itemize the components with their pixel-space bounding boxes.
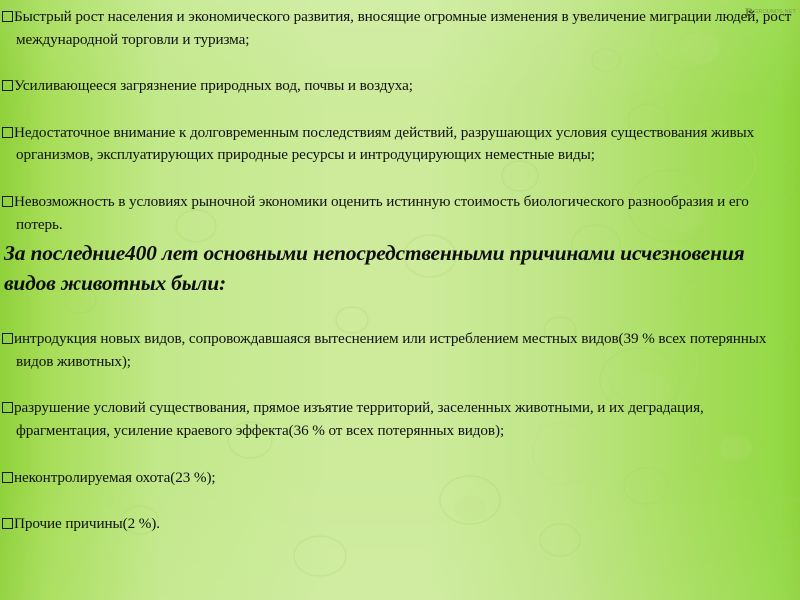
bullet-habitat-destruction-text: разрушение условий существования, прямое…: [14, 399, 704, 439]
bullet-other-causes: Прочие причины(2 %).: [2, 513, 792, 536]
bullet-box-icon: [2, 518, 13, 529]
slide-content: Быстрый рост населения и экономического …: [0, 0, 800, 600]
bullet-pollution: Усиливающееся загрязнение природных вод,…: [2, 75, 792, 98]
bullet-box-icon: [2, 333, 13, 344]
bullet-box-icon: [2, 472, 13, 483]
bullet-market-economy: Невозможность в условиях рыночной эконом…: [2, 191, 792, 236]
bullet-box-icon: [2, 80, 13, 91]
spacer: [2, 443, 792, 467]
bullet-population-growth: Быстрый рост населения и экономического …: [2, 6, 792, 51]
bullet-uncontrolled-hunting-text: неконтролируемая охота(23 %);: [14, 469, 216, 486]
spacer: [2, 98, 792, 122]
bullet-introduction-species-text: интродукция новых видов, сопровождавшаяс…: [14, 330, 766, 370]
spacer: [2, 298, 792, 328]
spacer: [2, 373, 792, 397]
bullet-introduction-species: интродукция новых видов, сопровождавшаяс…: [2, 328, 792, 373]
bullet-uncontrolled-hunting: неконтролируемая охота(23 %);: [2, 467, 792, 490]
bullet-insufficient-attention-text: Недостаточное внимание к долговременным …: [14, 124, 754, 164]
bullet-box-icon: [2, 11, 13, 22]
bullet-market-economy-text: Невозможность в условиях рыночной эконом…: [14, 193, 749, 233]
bullet-pollution-text: Усиливающееся загрязнение природных вод,…: [14, 77, 413, 94]
bullet-habitat-destruction: разрушение условий существования, прямое…: [2, 397, 792, 442]
bullet-box-icon: [2, 402, 13, 413]
bullet-box-icon: [2, 127, 13, 138]
bullet-insufficient-attention: Недостаточное внимание к долговременным …: [2, 122, 792, 167]
spacer: [2, 51, 792, 75]
spacer: [2, 167, 792, 191]
slide-canvas: B GROUNDS.NET Быстрый рост населения и э…: [0, 0, 800, 600]
bullet-box-icon: [2, 196, 13, 207]
bullet-other-causes-text: Прочие причины(2 %).: [14, 515, 160, 532]
bullet-population-growth-text: Быстрый рост населения и экономического …: [14, 8, 791, 48]
heading-400-years: За последние400 лет основными непосредст…: [2, 238, 792, 298]
spacer: [2, 489, 792, 513]
